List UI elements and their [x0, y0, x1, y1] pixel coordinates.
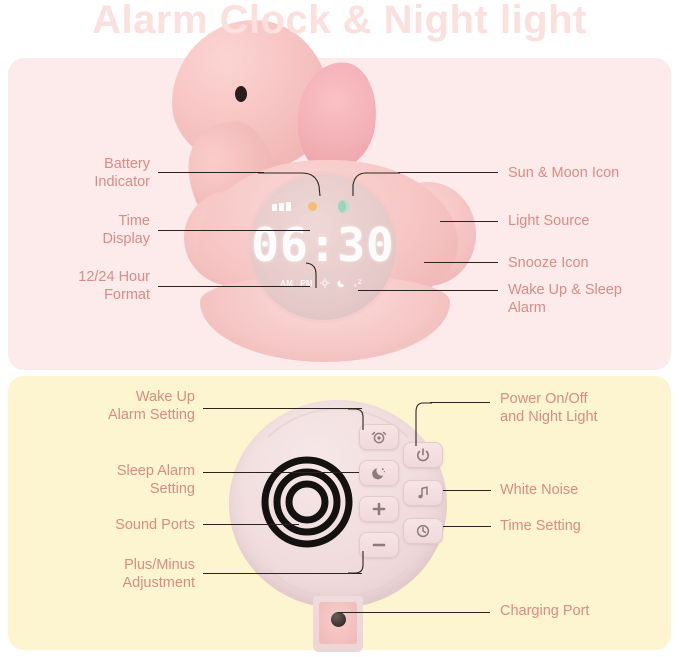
leader-time-display [158, 230, 310, 231]
music-note-icon [415, 485, 431, 501]
moon-button[interactable] [359, 460, 399, 486]
leader-plus-minus-curve [348, 551, 378, 577]
leader-snooze [424, 262, 498, 263]
leader-sound-ports [203, 524, 299, 525]
leader-wake-up-setting [203, 408, 362, 409]
label-wake-up-alarm-setting: Wake Up Alarm Setting [40, 388, 195, 424]
leader-white-noise [443, 490, 491, 491]
leader-wake-sleep [358, 290, 498, 291]
plus-icon [371, 501, 387, 517]
leader-sun-moon-curve [352, 172, 402, 198]
label-power-night-light: Power On/Off and Night Light [500, 390, 678, 426]
plus-button[interactable] [359, 496, 399, 522]
leader-hour-format [158, 286, 310, 287]
elephant-eye [235, 86, 247, 102]
leader-battery-indicator [158, 172, 264, 173]
label-sound-ports: Sound Ports [40, 516, 195, 534]
leader-power-curve [420, 402, 446, 448]
label-plus-minus-adjustment: Plus/Minus Adjustment [40, 556, 195, 592]
power-icon [415, 447, 431, 463]
sun-indicator-icon [308, 202, 317, 211]
label-time-display: Time Display [30, 212, 150, 248]
moon-indicator-icon [338, 200, 349, 213]
leader-sun-moon [398, 172, 498, 173]
label-charging-port: Charging Port [500, 602, 678, 620]
moon-icon [337, 278, 347, 288]
label-sun-moon-icon: Sun & Moon Icon [508, 164, 678, 182]
music-button[interactable] [403, 480, 443, 506]
leader-time-setting [443, 526, 491, 527]
label-white-noise: White Noise [500, 481, 678, 499]
leader-hour-format-curve [300, 262, 330, 290]
leader-sleep-alarm-setting [203, 472, 359, 473]
leader-wake-up-curve [348, 408, 378, 432]
label-battery-indicator: Battery Indicator [30, 155, 150, 191]
leader-light-source [440, 221, 498, 222]
svg-text:Z: Z [358, 280, 362, 286]
label-wake-sleep-alarm: Wake Up & Sleep Alarm [508, 281, 679, 317]
label-time-setting: Time Setting [500, 517, 678, 535]
leader-charging-port [338, 612, 490, 613]
charging-port-connector [331, 612, 346, 627]
label-light-source: Light Source [508, 212, 678, 230]
page-title: Alarm Clock & Night light [0, 0, 679, 43]
leader-battery-curve [258, 172, 328, 198]
clock-button[interactable] [403, 518, 443, 544]
moon-icon [371, 465, 387, 481]
svg-text:z: z [354, 283, 357, 288]
battery-indicator-icon [272, 202, 291, 211]
snooze-z-icon: z Z [354, 278, 366, 288]
label-sleep-alarm-setting: Sleep Alarm Setting [40, 462, 195, 498]
label-snooze-icon: Snooze Icon [508, 254, 678, 272]
clock-icon [415, 523, 431, 539]
label-hour-format: 12/24 Hour Format [20, 268, 150, 304]
leader-plus-minus [203, 573, 362, 574]
speaker-grille-icon [251, 446, 363, 556]
infographic-root: Alarm Clock & Night light 06:30 [0, 0, 679, 657]
